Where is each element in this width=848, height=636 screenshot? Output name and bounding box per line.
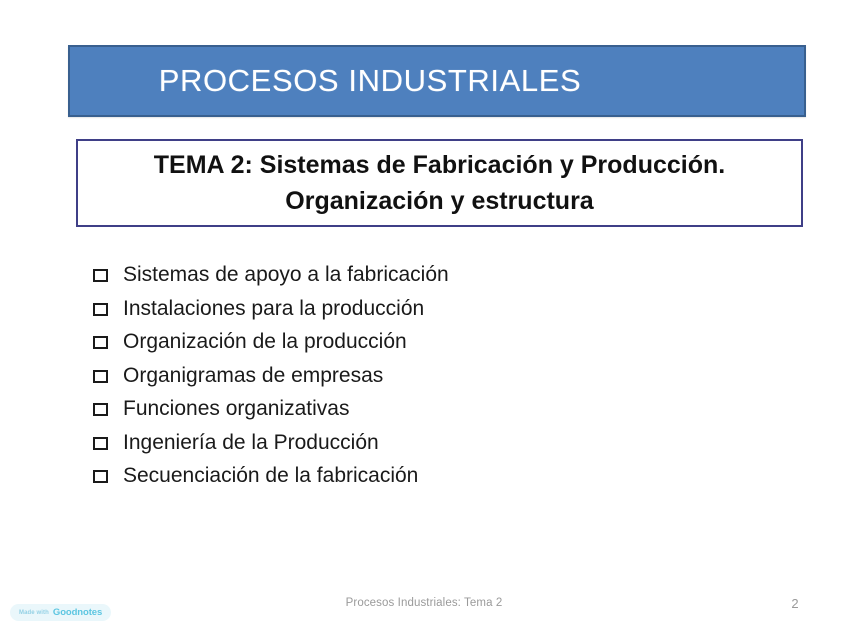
hollow-square-bullet-icon bbox=[93, 330, 123, 349]
goodnotes-watermark-badge: Made with Goodnotes bbox=[10, 604, 111, 621]
list-item: Instalaciones para la producción bbox=[93, 296, 733, 330]
page-number: 2 bbox=[760, 596, 830, 611]
list-item: Sistemas de apoyo a la fabricación bbox=[93, 262, 733, 296]
subtitle-line-2: Organización y estructura bbox=[285, 183, 593, 219]
list-item-label: Organización de la producción bbox=[123, 329, 407, 355]
list-item-label: Secuenciación de la fabricación bbox=[123, 463, 418, 489]
hollow-square-bullet-icon bbox=[93, 464, 123, 483]
list-item-label: Ingeniería de la Producción bbox=[123, 430, 379, 456]
list-item-label: Instalaciones para la producción bbox=[123, 296, 424, 322]
slide-footer-note: Procesos Industriales: Tema 2 bbox=[0, 597, 848, 609]
bullet-list: Sistemas de apoyo a la fabricación Insta… bbox=[93, 262, 733, 497]
list-item-label: Organigramas de empresas bbox=[123, 363, 383, 389]
list-item: Ingeniería de la Producción bbox=[93, 430, 733, 464]
list-item: Organización de la producción bbox=[93, 329, 733, 363]
hollow-square-bullet-icon bbox=[93, 431, 123, 450]
watermark-made-with-label: Made with bbox=[19, 610, 49, 616]
list-item: Funciones organizativas bbox=[93, 396, 733, 430]
list-item-label: Funciones organizativas bbox=[123, 396, 349, 422]
list-item: Organigramas de empresas bbox=[93, 363, 733, 397]
subtitle-line-1: TEMA 2: Sistemas de Fabricación y Produc… bbox=[154, 147, 725, 183]
slide-canvas: PROCESOS INDUSTRIALES TEMA 2: Sistemas d… bbox=[0, 0, 848, 636]
list-item: Secuenciación de la fabricación bbox=[93, 463, 733, 497]
hollow-square-bullet-icon bbox=[93, 397, 123, 416]
watermark-brand-label: Goodnotes bbox=[53, 607, 102, 618]
subtitle-box: TEMA 2: Sistemas de Fabricación y Produc… bbox=[76, 139, 803, 227]
list-item-label: Sistemas de apoyo a la fabricación bbox=[123, 262, 449, 288]
slide-title-banner: PROCESOS INDUSTRIALES bbox=[68, 45, 806, 117]
hollow-square-bullet-icon bbox=[93, 263, 123, 282]
hollow-square-bullet-icon bbox=[93, 297, 123, 316]
hollow-square-bullet-icon bbox=[93, 364, 123, 383]
page-title: PROCESOS INDUSTRIALES bbox=[159, 63, 582, 99]
